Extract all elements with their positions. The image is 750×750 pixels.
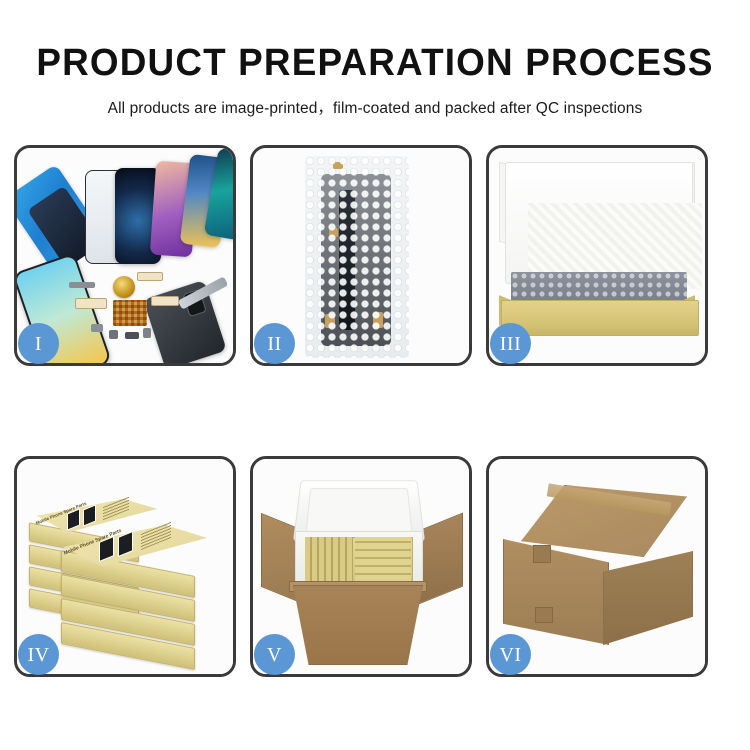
inner-boxes-right-graphic [355,537,411,581]
step-badge-1: I [18,323,59,364]
connector-chip-graphic [69,282,95,288]
sensor-part-graphic [125,332,139,339]
box-stack-graphic: Mobile Phone Spare Parts Mobile Phone Sp… [25,477,225,667]
speaker-coil-graphic [113,276,135,298]
carton-side-face-graphic [603,551,693,645]
step-panel-4[interactable]: Mobile Phone Spare Parts Mobile Phone Sp… [14,456,236,677]
bubble-bag-graphic [305,156,409,358]
inner-boxes-left-graphic [305,537,353,581]
process-row-2: Mobile Phone Spare Parts Mobile Phone Sp… [14,456,737,677]
step-badge-2: II [254,323,295,364]
sealed-carton-graphic [503,485,691,643]
foam-lid-inset-graphic [306,488,413,532]
header: PRODUCT PREPARATION PROCESS All products… [0,0,750,118]
box-base-graphic [501,300,699,336]
carton-tab-lower-graphic [535,607,553,623]
step-badge-4: IV [18,634,59,675]
step-badge-5: V [254,634,295,675]
carton-body-graphic [293,585,423,665]
bubble-texture-graphic [305,156,409,358]
process-steps-grid: I II [14,145,737,677]
process-row-1: I II [14,145,737,366]
button-part-graphic [109,330,118,339]
carton-front-face-graphic [503,539,609,645]
step-panel-3[interactable]: III [486,145,708,366]
logic-board-graphic [113,300,147,326]
flex-cable-3-graphic [137,272,163,281]
carton-tab-upper-graphic [533,545,551,563]
product-preparation-process-page: PRODUCT PREPARATION PROCESS All products… [0,0,750,750]
step-panel-6[interactable]: VI [486,456,708,677]
box-lid-graphic [505,162,693,284]
flex-cable-2-graphic [151,296,179,306]
page-subtitle: All products are image-printed，film-coat… [0,84,750,118]
page-title: PRODUCT PREPARATION PROCESS [11,0,739,84]
step-panel-1[interactable]: I [14,145,236,366]
step-badge-6: VI [490,634,531,675]
step-panel-2[interactable]: II [250,145,472,366]
step-badge-3: III [490,323,531,364]
camera-part-graphic [143,328,151,338]
step-panel-5[interactable]: V [250,456,472,677]
small-chip-graphic [91,324,103,332]
flex-cable-graphic [75,298,107,309]
